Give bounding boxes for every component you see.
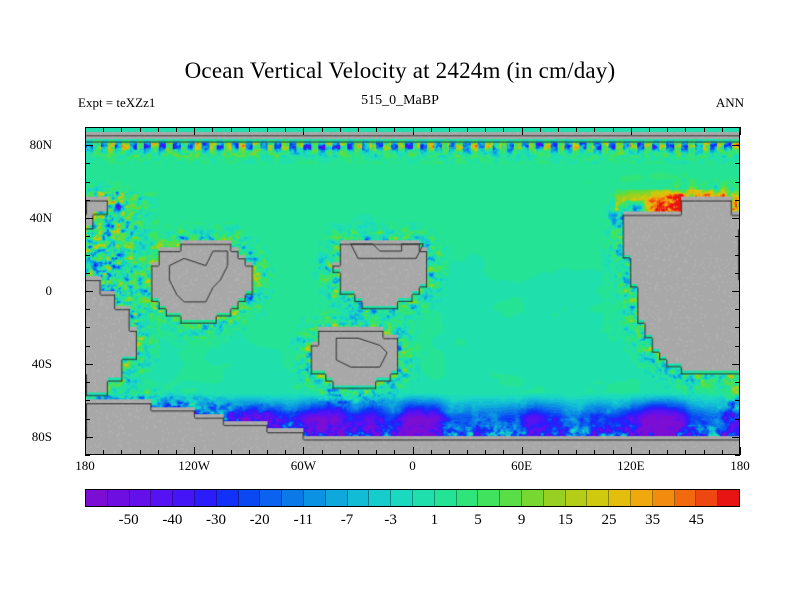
tick-mark xyxy=(212,127,213,132)
colorbar-cell xyxy=(348,490,370,506)
tick-mark xyxy=(631,127,632,135)
y-axis-tick-label: 80N xyxy=(30,137,52,153)
tick-mark xyxy=(267,127,268,132)
tick-mark xyxy=(735,382,740,383)
velocity-field-heatmap xyxy=(86,128,739,454)
colorbar-cell xyxy=(369,490,391,506)
tick-mark xyxy=(732,437,740,438)
tick-mark xyxy=(735,327,740,328)
tick-mark xyxy=(85,382,90,383)
tick-mark xyxy=(85,127,86,135)
tick-mark xyxy=(735,236,740,237)
tick-mark xyxy=(85,127,90,128)
tick-mark xyxy=(722,450,723,455)
tick-mark xyxy=(212,450,213,455)
colorbar-cell xyxy=(587,490,609,506)
season-label: ANN xyxy=(716,95,744,111)
tick-mark xyxy=(85,309,90,310)
tick-mark xyxy=(735,400,740,401)
colorbar-cell xyxy=(718,490,739,506)
tick-mark xyxy=(194,447,195,455)
tick-mark xyxy=(735,309,740,310)
colorbar-cell xyxy=(500,490,522,506)
tick-mark xyxy=(613,127,614,132)
tick-mark xyxy=(732,218,740,219)
x-axis-tick-label: 120E xyxy=(617,458,644,474)
colorbar-cell xyxy=(239,490,261,506)
colorbar-cell xyxy=(217,490,239,506)
colorbar-cell xyxy=(653,490,675,506)
colorbar-cell xyxy=(478,490,500,506)
colorbar-tick-label: 35 xyxy=(645,512,660,529)
tick-mark xyxy=(358,127,359,132)
tick-mark xyxy=(85,291,93,292)
tick-mark xyxy=(85,327,90,328)
colorbar-cell xyxy=(260,490,282,506)
tick-mark xyxy=(394,450,395,455)
tick-mark xyxy=(85,200,90,201)
tick-mark xyxy=(735,419,740,420)
tick-mark xyxy=(449,127,450,132)
colorbar-cell xyxy=(304,490,326,506)
colorbar-cell xyxy=(566,490,588,506)
colorbar-cell xyxy=(413,490,435,506)
page-title: Ocean Vertical Velocity at 2424m (in cm/… xyxy=(0,58,800,84)
tick-mark xyxy=(140,127,141,132)
colorbar-tick-label: -50 xyxy=(119,512,139,529)
colorbar-cell xyxy=(86,490,108,506)
colorbar-tick-label: -11 xyxy=(294,512,313,529)
tick-mark xyxy=(85,419,90,420)
tick-mark xyxy=(194,127,195,135)
y-axis-tick-label: 40N xyxy=(30,210,52,226)
tick-mark xyxy=(685,127,686,132)
tick-mark xyxy=(431,127,432,132)
colorbar-tick-label: -3 xyxy=(384,512,397,529)
tick-mark xyxy=(176,450,177,455)
tick-mark xyxy=(376,127,377,132)
tick-mark xyxy=(85,400,90,401)
tick-mark xyxy=(121,450,122,455)
tick-mark xyxy=(285,450,286,455)
colorbar-cell xyxy=(108,490,130,506)
tick-mark xyxy=(85,218,93,219)
tick-mark xyxy=(649,127,650,132)
tick-mark xyxy=(503,127,504,132)
tick-mark xyxy=(649,450,650,455)
tick-mark xyxy=(85,182,90,183)
tick-mark xyxy=(704,127,705,132)
y-axis-tick-label: 0 xyxy=(46,283,53,299)
tick-mark xyxy=(540,127,541,132)
tick-mark xyxy=(85,236,90,237)
colorbar-tick-label: -7 xyxy=(341,512,354,529)
tick-mark xyxy=(340,450,341,455)
tick-mark xyxy=(735,127,740,128)
tick-mark xyxy=(176,127,177,132)
tick-mark xyxy=(103,450,104,455)
tick-mark xyxy=(431,450,432,455)
tick-mark xyxy=(485,127,486,132)
colorbar-tick-label: 1 xyxy=(431,512,439,529)
tick-mark xyxy=(735,273,740,274)
x-axis-tick-label: 0 xyxy=(409,458,416,474)
colorbar-tick-label: -40 xyxy=(162,512,182,529)
tick-mark xyxy=(631,447,632,455)
tick-mark xyxy=(340,127,341,132)
tick-mark xyxy=(267,450,268,455)
colorbar-cell xyxy=(173,490,195,506)
velocity-field-canvas xyxy=(86,128,739,454)
x-axis-tick-label: 60E xyxy=(511,458,532,474)
tick-mark xyxy=(413,127,414,135)
tick-mark xyxy=(85,255,90,256)
tick-mark xyxy=(121,127,122,132)
colorbar-cell xyxy=(696,490,718,506)
tick-mark xyxy=(594,127,595,132)
tick-mark xyxy=(249,127,250,132)
tick-mark xyxy=(735,455,740,456)
tick-mark xyxy=(740,447,741,455)
tick-mark xyxy=(449,450,450,455)
x-axis-tick-label: 120W xyxy=(178,458,210,474)
tick-mark xyxy=(85,145,93,146)
tick-mark xyxy=(467,127,468,132)
tick-mark xyxy=(735,200,740,201)
tick-mark xyxy=(732,291,740,292)
colorbar-tick-label: -20 xyxy=(250,512,270,529)
tick-mark xyxy=(158,127,159,132)
tick-mark xyxy=(735,163,740,164)
colorbar-cell xyxy=(609,490,631,506)
colorbar-cell xyxy=(631,490,653,506)
tick-mark xyxy=(303,127,304,135)
tick-mark xyxy=(231,450,232,455)
x-axis-tick-label: 60W xyxy=(291,458,316,474)
tick-mark xyxy=(722,127,723,132)
tick-mark xyxy=(85,437,93,438)
case-label: 515_0_MaBP xyxy=(0,93,800,109)
tick-mark xyxy=(140,450,141,455)
tick-mark xyxy=(667,127,668,132)
tick-mark xyxy=(303,447,304,455)
colorbar-cell xyxy=(326,490,348,506)
tick-mark xyxy=(249,450,250,455)
tick-mark xyxy=(322,127,323,132)
tick-mark xyxy=(522,447,523,455)
tick-mark xyxy=(522,127,523,135)
tick-mark xyxy=(594,450,595,455)
tick-mark xyxy=(103,127,104,132)
map-plot-area xyxy=(85,127,740,455)
tick-mark xyxy=(85,364,93,365)
figure-canvas: Ocean Vertical Velocity at 2424m (in cm/… xyxy=(0,0,800,600)
x-axis-tick-label: 180 xyxy=(75,458,95,474)
tick-mark xyxy=(576,450,577,455)
tick-mark xyxy=(322,450,323,455)
tick-mark xyxy=(732,145,740,146)
tick-mark xyxy=(85,163,90,164)
tick-mark xyxy=(613,450,614,455)
tick-mark xyxy=(85,447,86,455)
colorbar-tick-label: 25 xyxy=(602,512,617,529)
tick-mark xyxy=(740,127,741,135)
tick-mark xyxy=(358,450,359,455)
colorbar-cell xyxy=(151,490,173,506)
tick-mark xyxy=(467,450,468,455)
tick-mark xyxy=(667,450,668,455)
tick-mark xyxy=(540,450,541,455)
tick-mark xyxy=(485,450,486,455)
colorbar-cell xyxy=(522,490,544,506)
tick-mark xyxy=(376,450,377,455)
tick-mark xyxy=(231,127,232,132)
tick-mark xyxy=(503,450,504,455)
tick-mark xyxy=(735,255,740,256)
colorbar-cell xyxy=(544,490,566,506)
colorbar-tick-label: -30 xyxy=(206,512,226,529)
tick-mark xyxy=(85,346,90,347)
tick-mark xyxy=(558,127,559,132)
colorbar-cell xyxy=(457,490,479,506)
tick-mark xyxy=(732,364,740,365)
colorbar-tick-label: 15 xyxy=(558,512,573,529)
tick-mark xyxy=(394,127,395,132)
tick-mark xyxy=(685,450,686,455)
x-axis-tick-label: 180 xyxy=(730,458,750,474)
colorbar-cell xyxy=(282,490,304,506)
colorbar-cell xyxy=(195,490,217,506)
colorbar-tick-label: 9 xyxy=(518,512,526,529)
colorbar-cell xyxy=(130,490,152,506)
colorbar xyxy=(85,489,740,507)
colorbar-cell xyxy=(435,490,457,506)
tick-mark xyxy=(576,127,577,132)
tick-mark xyxy=(704,450,705,455)
tick-mark xyxy=(735,346,740,347)
tick-mark xyxy=(558,450,559,455)
tick-mark xyxy=(158,450,159,455)
colorbar-cell xyxy=(391,490,413,506)
tick-mark xyxy=(413,447,414,455)
colorbar-cell xyxy=(675,490,697,506)
tick-mark xyxy=(735,182,740,183)
tick-mark xyxy=(85,455,90,456)
y-axis-tick-label: 40S xyxy=(32,356,52,372)
tick-mark xyxy=(85,273,90,274)
colorbar-tick-label: 5 xyxy=(474,512,482,529)
tick-mark xyxy=(285,127,286,132)
colorbar-tick-label: 45 xyxy=(689,512,704,529)
y-axis-tick-label: 80S xyxy=(32,429,52,445)
subtitle-row: Expt = teXZz1 515_0_MaBP ANN xyxy=(0,93,800,111)
